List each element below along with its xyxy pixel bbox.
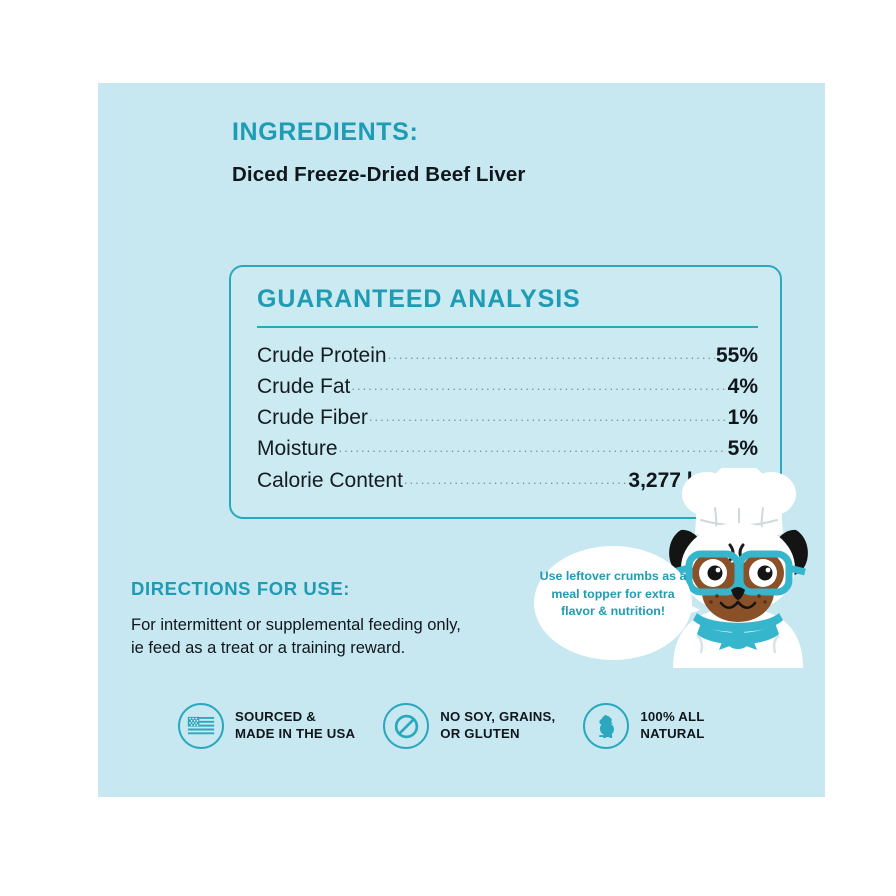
analysis-value: 4%: [728, 371, 758, 402]
analysis-value: 55%: [716, 340, 758, 371]
analysis-label: Crude Protein: [257, 340, 387, 371]
no-entry-icon-circle: [383, 703, 429, 749]
analysis-label: Crude Fiber: [257, 402, 368, 433]
dot-leader: ........................................…: [404, 470, 627, 489]
guaranteed-analysis-content: GUARANTEED ANALYSIS Crude Protein ......…: [257, 285, 758, 496]
chicken-icon-circle: [583, 703, 629, 749]
analysis-row: Crude Protein ..........................…: [257, 340, 758, 371]
callout-bubble: Use leftover crumbs as a meal topper for…: [534, 546, 692, 660]
badge-100-all-natural: 100% ALL NATURAL: [583, 703, 704, 749]
badge-label: NO SOY, GRAINS, OR GLUTEN: [440, 709, 555, 743]
analysis-row: Crude Fiber ............................…: [257, 402, 758, 433]
callout-text: Use leftover crumbs as a meal topper for…: [534, 568, 692, 621]
ingredients-heading: INGREDIENTS:: [232, 119, 792, 147]
directions-line-2: ie feed as a treat or a training reward.: [131, 639, 405, 657]
badge-label: 100% ALL NATURAL: [640, 709, 704, 743]
dot-leader: ........................................…: [351, 376, 726, 395]
analysis-label: Calorie Content: [257, 465, 403, 496]
directions-line-1: For intermittent or supplemental feeding…: [131, 616, 461, 634]
analysis-row: Moisture ...............................…: [257, 433, 758, 464]
analysis-value: 1%: [728, 402, 758, 433]
directions-heading: DIRECTIONS FOR USE:: [131, 578, 531, 600]
guaranteed-analysis-title: GUARANTEED ANALYSIS: [257, 285, 758, 314]
analysis-label: Moisture: [257, 433, 338, 464]
analysis-label: Crude Fat: [257, 371, 350, 402]
no-entry-icon: [393, 713, 420, 740]
analysis-row: Crude Fat ..............................…: [257, 371, 758, 402]
usa-flag-icon-circle: [178, 703, 224, 749]
dot-leader: ........................................…: [388, 345, 715, 364]
label-panel: INGREDIENTS: Diced Freeze-Dried Beef Liv…: [98, 83, 825, 797]
analysis-value: 5%: [728, 433, 758, 464]
directions-section: DIRECTIONS FOR USE: For intermittent or …: [131, 578, 531, 661]
badge-sourced-made-in-usa: SOURCED & MADE IN THE USA: [178, 703, 355, 749]
directions-body: For intermittent or supplemental feeding…: [131, 614, 531, 661]
usa-flag-icon: [187, 716, 215, 737]
trust-badges: SOURCED & MADE IN THE USA NO SOY, GRAINS…: [178, 703, 788, 749]
ingredients-section: INGREDIENTS: Diced Freeze-Dried Beef Liv…: [232, 119, 792, 187]
product-label-page: INGREDIENTS: Diced Freeze-Dried Beef Liv…: [0, 0, 896, 896]
dot-leader: ........................................…: [369, 407, 727, 426]
dot-leader: ........................................…: [339, 438, 727, 457]
badge-no-soy-grains-gluten: NO SOY, GRAINS, OR GLUTEN: [383, 703, 555, 749]
guaranteed-analysis-divider: [257, 326, 758, 329]
chicken-icon: [593, 713, 619, 739]
ingredients-text: Diced Freeze-Dried Beef Liver: [232, 163, 792, 188]
badge-label: SOURCED & MADE IN THE USA: [235, 709, 355, 743]
